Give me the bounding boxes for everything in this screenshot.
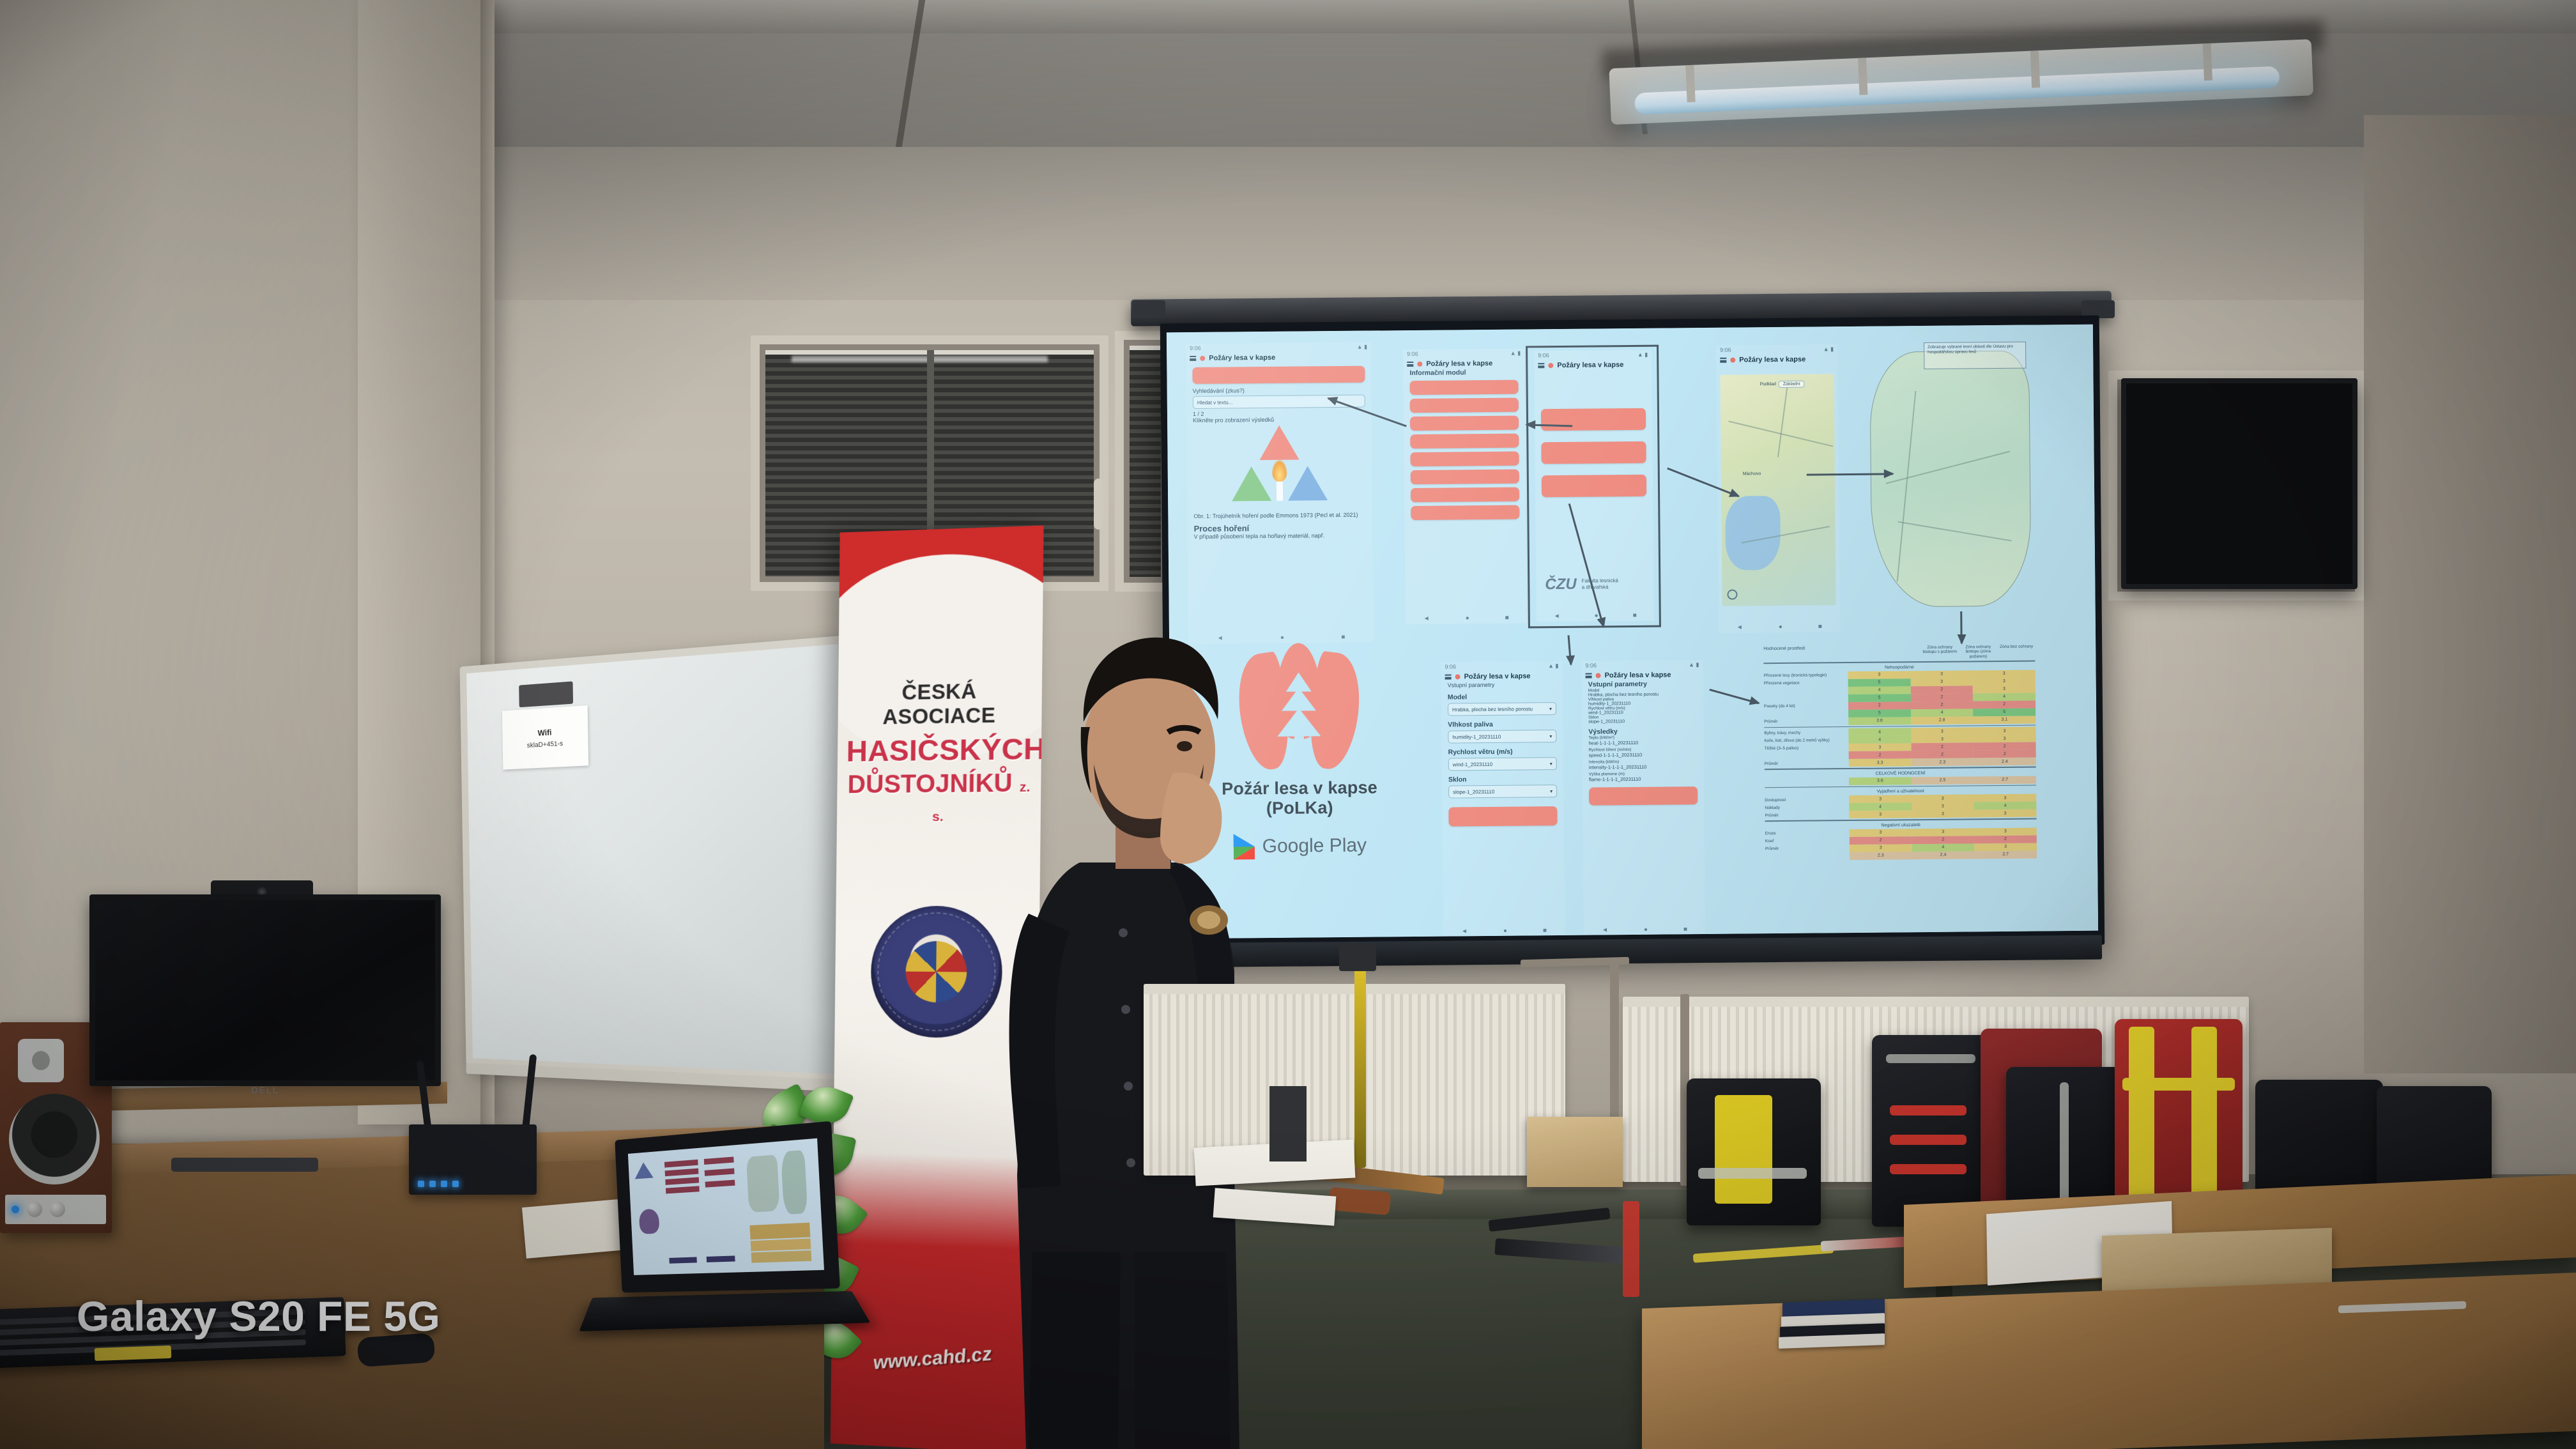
menu-item-7[interactable] xyxy=(1411,505,1519,520)
lamp-clip xyxy=(1685,65,1695,102)
laptop-slide-region xyxy=(781,1150,808,1215)
menu-item-1[interactable] xyxy=(1410,398,1519,413)
monitor-base xyxy=(171,1158,318,1172)
presenter-leg-right xyxy=(1135,1252,1230,1449)
matrix-cell: 3 xyxy=(1850,844,1912,852)
phone-app-bar: Požáry lesa v kapse xyxy=(1186,352,1371,364)
nav-recents-icon[interactable]: ■ xyxy=(1341,634,1345,641)
matrix-cell: 3 xyxy=(1973,670,2035,678)
nav-home-icon[interactable]: ● xyxy=(1644,926,1648,933)
laptop-slide-table xyxy=(751,1250,812,1263)
faculty-line-1: Fakulta lesnická xyxy=(1582,578,1618,585)
camera-watermark: Galaxy S20 FE 5G xyxy=(77,1292,440,1340)
menu-icon[interactable] xyxy=(1538,363,1544,368)
wifi-note-password: sklaD+451-s xyxy=(527,740,563,749)
fire-extinguisher xyxy=(1623,1201,1639,1297)
matrix-body: Přirozené lesy (lesnická typologie)333Př… xyxy=(1764,670,2037,861)
backpack-strap xyxy=(1890,1164,1966,1174)
input-label-0: Model xyxy=(1441,693,1563,701)
map-road xyxy=(1777,387,1788,457)
menu-item-6[interactable] xyxy=(1411,487,1519,502)
nav-recents-icon[interactable]: ■ xyxy=(1543,927,1547,934)
arrow-results-to-matrix xyxy=(1709,689,1759,704)
wifi-note-title: Wifi xyxy=(538,727,552,737)
chevron-down-icon: ▾ xyxy=(1549,733,1552,739)
matrix-row-label: Paseky (do 4 let) xyxy=(1764,702,1848,710)
laptop-slide-map xyxy=(746,1154,780,1212)
matrix-cell: 2.8 xyxy=(1911,716,1974,724)
matrix-cell: 3 xyxy=(1974,827,2037,836)
app-title: Požáry lesa v kapse xyxy=(1557,361,1623,369)
matrix-cell: 4 xyxy=(1848,728,1911,737)
reflective-stripe xyxy=(1698,1168,1807,1179)
nav-back-icon[interactable]: ◄ xyxy=(1554,613,1560,620)
matrix-row: Průměr333 xyxy=(1765,809,2036,820)
laptop xyxy=(594,1131,869,1342)
phone-mock-info: 9:06▲ ▮ Požáry lesa v kapse Vyhledávání … xyxy=(1186,342,1374,645)
matrix-cell: 3 xyxy=(1973,677,2035,686)
shirt-button xyxy=(1124,1082,1133,1091)
matrix-cell: 5 xyxy=(1848,678,1911,687)
matrix-cell: 4 xyxy=(1848,736,1911,744)
backpack-strap-yellow xyxy=(2129,1027,2154,1218)
matrix-cell: 3 xyxy=(1910,670,1973,678)
laptop-screen xyxy=(628,1138,824,1275)
status-icons: ▲ ▮ xyxy=(1689,661,1699,668)
nav-recents-icon[interactable]: ■ xyxy=(1818,623,1822,630)
lamp-clip xyxy=(2030,50,2040,88)
lamp-clip xyxy=(2203,43,2212,80)
backpack-strap-yellow xyxy=(2191,1027,2217,1218)
matrix-col-1: Zóna ochrany biotopu (zóna požárem) xyxy=(1959,645,1997,659)
matrix-cell: 2.7 xyxy=(1974,776,2036,784)
matrix-cell: 2.7 xyxy=(1974,850,2037,859)
flame-icon xyxy=(1417,362,1422,367)
map-view[interactable]: Podklad Základní Máchovo xyxy=(1720,374,1836,606)
result-value-1: speed-1-1-1-1_20231110 xyxy=(1583,751,1704,758)
backpack-belt xyxy=(2122,1078,2235,1091)
phone-nav-bar[interactable]: ◄●■ xyxy=(1719,623,1840,631)
dell-monitor: DELL xyxy=(89,894,441,1086)
matrix-row-header: Hodnocené prostředí xyxy=(1763,645,1920,661)
matrix-cell: 2 xyxy=(1849,751,1912,760)
reflective-stripe xyxy=(2060,1082,2069,1204)
input-value-3: slope-1_20231110 xyxy=(1453,788,1494,795)
status-time: 9:06 xyxy=(1585,662,1597,669)
backpack-black-red xyxy=(1872,1035,1993,1227)
flame-icon xyxy=(1200,356,1205,361)
matrix-header-row: Hodnocené prostředí Zóna ochrany biotopu… xyxy=(1763,645,2035,661)
input-select-model[interactable]: Hrabka, plocha bez lesního porostu▾ xyxy=(1448,702,1556,716)
phone-status-bar: 9:06▲ ▮ xyxy=(1534,350,1652,361)
matrix-cell: 5 xyxy=(1848,709,1911,717)
matrix-row-label: Průměr xyxy=(1765,811,1849,819)
result-value-3: flame-1-1-1-1_20231110 xyxy=(1583,776,1704,783)
shirt-button xyxy=(1119,928,1128,937)
map-layer-label: Podklad xyxy=(1760,382,1776,387)
nav-recents-icon[interactable]: ■ xyxy=(1633,612,1637,619)
app-title: Požáry lesa v kapse xyxy=(1426,360,1492,368)
chevron-down-icon: ▾ xyxy=(1550,761,1552,767)
menu-icon[interactable] xyxy=(1445,674,1452,679)
search-hint: Vyhledávání (zkus?) xyxy=(1186,387,1372,395)
nav-back-icon[interactable]: ◄ xyxy=(1736,624,1743,631)
blind-light-gap xyxy=(792,356,1048,362)
matrix-cell: 2 xyxy=(1974,835,2037,843)
triangle-oxidizer xyxy=(1259,425,1299,461)
input-select-humidity[interactable]: humidity-1_20231110▾ xyxy=(1448,730,1556,743)
matrix-cell: 2 xyxy=(1974,750,2036,758)
presenter-hand xyxy=(1160,772,1222,864)
matrix-col-0: Zóna ochrany biotopu s požárem xyxy=(1921,645,1958,660)
menu-icon[interactable] xyxy=(1190,356,1196,361)
input-label-3: Sklon xyxy=(1442,775,1563,784)
save-button[interactable] xyxy=(1589,786,1698,805)
laptop-slide-button xyxy=(707,1255,735,1262)
menu-section-label: Informační modul xyxy=(1403,368,1524,377)
phone-nav-bar[interactable]: ◄●■ xyxy=(1406,614,1527,622)
matrix-cell: 2 xyxy=(1910,686,1973,694)
whiteboard: Wifi sklaD+451-s xyxy=(460,635,854,1083)
menu-item-5[interactable] xyxy=(1411,470,1519,484)
inputs-section-label: Vstupní parametry xyxy=(1441,681,1563,689)
nav-recents-icon[interactable]: ■ xyxy=(1683,926,1687,933)
menu-icon[interactable] xyxy=(1720,358,1726,363)
map-place-label: Máchovo xyxy=(1743,471,1761,476)
flame-icon xyxy=(1596,673,1601,678)
input-value-2: wind-1_20231110 xyxy=(1453,761,1492,767)
phone-mock-map: 9:06▲ ▮ Požáry lesa v kapse Podklad xyxy=(1716,344,1840,633)
forest-region-map xyxy=(1869,351,2031,608)
input-value-0: Hrabka, plocha bez lesního porostu xyxy=(1452,706,1533,712)
input-select-slope[interactable]: slope-1_20231110▾ xyxy=(1448,785,1557,798)
menu-item-4[interactable] xyxy=(1411,452,1519,466)
phone-nav-bar[interactable]: ◄●■ xyxy=(1537,612,1654,620)
matrix-cell: 2 xyxy=(1974,742,2036,751)
faculty-line-2: a dřevařská xyxy=(1582,584,1618,590)
phone-mock-menu: 9:06▲ ▮ Požáry lesa v kapse Informační m… xyxy=(1403,348,1527,624)
matrix-cell: 3.8 xyxy=(1848,717,1911,725)
map-layer-select[interactable]: Základní xyxy=(1779,381,1805,388)
speaker-woofer xyxy=(9,1094,100,1184)
matrix-cell: 3 xyxy=(1848,671,1910,679)
menu-item-3[interactable] xyxy=(1410,434,1519,448)
power-led xyxy=(11,1206,19,1213)
matrix-row: 2.32.42.7 xyxy=(1765,850,2037,861)
matrix-cell: 3 xyxy=(1912,795,1974,803)
matrix-col-2: Zóna bez ochrany xyxy=(1998,645,2035,659)
phone-status-bar: 9:06▲ ▮ xyxy=(1186,342,1371,354)
module-button-info[interactable] xyxy=(1541,408,1646,431)
arrow-to-inputs xyxy=(1568,635,1572,664)
laptop-slide-table xyxy=(749,1223,810,1240)
matrix-cell: 5 xyxy=(1973,708,2035,716)
status-time: 9:06 xyxy=(1720,347,1731,354)
calculate-button[interactable] xyxy=(1448,806,1557,826)
matrix-cell: 3 xyxy=(1912,810,1974,818)
wifi-router xyxy=(409,1124,537,1195)
nav-home-icon[interactable]: ● xyxy=(1466,615,1469,622)
fire-triangle-diagram xyxy=(1231,425,1328,510)
matrix-cell: 3 xyxy=(1974,727,2036,735)
matrix-cell: 3 xyxy=(1974,843,2037,851)
app-title: Požáry lesa v kapse xyxy=(1605,671,1671,679)
matrix-cell: 3.1 xyxy=(1973,716,2035,724)
lamp-clip xyxy=(1858,57,1867,95)
figure-caption: Obr. 1: Trojúhelník hoření podle Emmons … xyxy=(1187,512,1372,521)
axe-handle xyxy=(1354,957,1366,1168)
right-wall xyxy=(2364,115,2576,1073)
menu-icon[interactable] xyxy=(1586,673,1592,678)
cahd-emblem xyxy=(870,906,1002,1039)
search-button[interactable] xyxy=(1192,366,1365,384)
status-icons: ▲ ▮ xyxy=(1357,344,1367,351)
matrix-cell: 3 xyxy=(1912,828,1974,836)
backpack-panel-yellow xyxy=(1715,1095,1772,1204)
flat-panel-tv xyxy=(2121,378,2357,589)
matrix-row-label xyxy=(1764,710,1848,718)
roller-cap-left xyxy=(1132,300,1165,318)
matrix-cell: 3.6 xyxy=(1849,777,1912,785)
room-photo-scene: 9:06▲ ▮ Požáry lesa v kapse Vyhledávání … xyxy=(0,0,2576,1449)
matrix-row-label: Průměr xyxy=(1765,759,1849,767)
matrix-cell: 3 xyxy=(1850,829,1912,837)
phone-status-bar: 9:06▲ ▮ xyxy=(1441,661,1562,672)
phone-mock-modules: 9:06▲ ▮ Požáry lesa v kapse ČZU Fakulta … xyxy=(1534,350,1654,622)
matrix-cell: 4 xyxy=(1912,843,1974,852)
matrix-cell: 5 xyxy=(1848,694,1911,702)
shirt-button xyxy=(1121,1005,1130,1014)
matrix-cell: 3 xyxy=(1973,685,2035,693)
cardboard-box xyxy=(1527,1117,1623,1187)
flame-icon xyxy=(1730,358,1735,363)
flame-icon xyxy=(1548,363,1553,368)
phone-mock-inputs: 9:06▲ ▮ Požáry lesa v kapse Vstupní para… xyxy=(1441,661,1565,937)
czu-logo: ČZU xyxy=(1545,576,1577,594)
input-select-wind[interactable]: wind-1_20231110▾ xyxy=(1448,757,1557,770)
nav-back-icon[interactable]: ◄ xyxy=(1423,615,1430,622)
flame-icon xyxy=(1455,674,1460,679)
matrix-cell: 3 xyxy=(1910,678,1973,686)
matrix-cell: 4 xyxy=(1973,693,2035,701)
shirt-button xyxy=(1126,1158,1135,1167)
matrix-cell: 2 xyxy=(1911,743,1974,751)
volume-knob[interactable] xyxy=(27,1202,42,1217)
laptop-slide-triangle xyxy=(634,1161,654,1179)
laptop-lid xyxy=(615,1121,840,1293)
matrix-cell: 3 xyxy=(1849,811,1912,819)
status-icons: ▲ ▮ xyxy=(1510,350,1521,357)
phone-status-bar: 9:06▲ ▮ xyxy=(1403,348,1524,359)
matrix-cell: 3 xyxy=(1849,795,1912,804)
matrix-cell: 2 xyxy=(1911,701,1974,709)
presenter-eye xyxy=(1177,741,1192,751)
triangle-fuel xyxy=(1232,466,1271,502)
region-boundary xyxy=(1886,451,2010,484)
triangle-heat xyxy=(1288,466,1328,501)
nav-back-icon[interactable]: ◄ xyxy=(1602,926,1608,933)
chain-reaction-arrow xyxy=(1276,482,1283,501)
result-note: Klikněte pro zobrazení výsledků xyxy=(1186,416,1372,424)
matrix-cell: 2.3 xyxy=(1911,758,1974,767)
wifi-note: Wifi sklaD+451-s xyxy=(502,705,588,770)
keyboard-sticker xyxy=(95,1345,172,1361)
matrix-cell: 2.5 xyxy=(1912,776,1974,785)
speaker-tweeter xyxy=(18,1039,64,1082)
evaluation-matrix: Hodnocené prostředí Zóna ochrany biotopu… xyxy=(1763,645,2037,861)
status-time: 9:06 xyxy=(1445,663,1456,670)
echo-7: slope-1_20231110 xyxy=(1582,719,1703,724)
laptop-slide-button xyxy=(669,1257,697,1263)
presenter-leg-left xyxy=(1029,1252,1121,1449)
matrix-row: 3.62.52.7 xyxy=(1765,776,2036,786)
matrix-row-label xyxy=(1765,778,1849,786)
matrix-cell: 2 xyxy=(1848,701,1911,710)
menu-item-0[interactable] xyxy=(1410,380,1519,395)
axe-head xyxy=(1339,944,1376,971)
menu-icon[interactable] xyxy=(1407,362,1413,367)
module-button-map[interactable] xyxy=(1541,441,1646,464)
app-title: Požáry lesa v kapse xyxy=(1209,354,1275,362)
backpack-strap xyxy=(1890,1105,1966,1115)
matrix-cell: 2.3 xyxy=(1850,852,1912,860)
body-text: V případě působení tepla na hořlavý mate… xyxy=(1188,532,1373,540)
region-note: Zobrazuje vybrané lesní oblasti dle Ústa… xyxy=(1928,344,2022,356)
nav-back-icon[interactable]: ◄ xyxy=(1461,928,1468,935)
module-button-calc[interactable] xyxy=(1542,475,1646,497)
matrix-row: Průměr3.82.83.1 xyxy=(1764,716,2035,726)
map-lake xyxy=(1725,496,1781,571)
menu-item-2[interactable] xyxy=(1410,416,1519,431)
matrix-row-label: Průměr xyxy=(1764,717,1848,726)
region-boundary xyxy=(1898,521,2012,542)
reflective-stripe xyxy=(1886,1054,1975,1063)
matrix-cell: 2 xyxy=(1911,751,1974,759)
nav-home-icon[interactable]: ● xyxy=(1779,624,1782,631)
matrix-cell: 2.4 xyxy=(1912,851,1975,859)
whiteboard-marker-holder xyxy=(519,681,573,707)
laptop-slide-table xyxy=(751,1238,811,1251)
status-time: 9:06 xyxy=(1538,352,1549,359)
matrix-cell: 3 xyxy=(1911,735,1974,744)
status-icons: ▲ ▮ xyxy=(1548,663,1558,670)
map-locate-icon[interactable] xyxy=(1727,590,1737,600)
radiator-top-rail xyxy=(1623,997,2249,1007)
matrix-cell: 3 xyxy=(1911,728,1974,736)
arrow-region-to-matrix xyxy=(1960,611,1962,643)
router-status-leds xyxy=(418,1181,459,1187)
phone-app-bar: Požáry lesa v kapse xyxy=(1716,354,1837,365)
matrix-cell: 2 xyxy=(1910,693,1973,701)
phone-status-bar: 9:06▲ ▮ xyxy=(1581,660,1703,671)
tone-knob[interactable] xyxy=(50,1202,65,1217)
matrix-cell: 2 xyxy=(1973,700,2035,709)
matrix-cell: 3 xyxy=(1974,809,2037,818)
phone-nav-bar[interactable]: ◄●■ xyxy=(1584,926,1705,934)
matrix-cell: 2 xyxy=(1912,836,1974,844)
matrix-cell: 2.4 xyxy=(1974,758,2036,766)
chevron-down-icon: ▾ xyxy=(1550,788,1552,794)
monitor-screen xyxy=(95,900,435,1080)
search-input-value: Hledat v textu... xyxy=(1197,399,1233,405)
watch-face xyxy=(1197,911,1220,929)
matrix-row-label xyxy=(1765,852,1850,861)
input-value-1: humidity-1_20231110 xyxy=(1452,733,1501,740)
matrix-cell: 3 xyxy=(1974,735,2036,743)
result-value-2: intensity-1-1-1-1_20231110 xyxy=(1583,763,1704,770)
backpack-strap xyxy=(1890,1135,1966,1145)
nav-recents-icon[interactable]: ■ xyxy=(1505,615,1509,622)
phone-status-bar: 9:06▲ ▮ xyxy=(1716,344,1837,355)
nav-home-icon[interactable]: ● xyxy=(1503,928,1507,935)
backpack-black-yellow xyxy=(1687,1078,1821,1225)
flame-icon-center xyxy=(1272,460,1287,482)
status-icons: ▲ ▮ xyxy=(1637,351,1648,358)
chevron-down-icon: ▾ xyxy=(1549,706,1552,712)
matrix-row: Průměr3.32.32.4 xyxy=(1765,758,2036,768)
speaker-control-panel[interactable] xyxy=(5,1195,106,1224)
status-icons: ▲ ▮ xyxy=(1823,346,1834,353)
phone-app-bar: Požáry lesa v kapse xyxy=(1441,671,1563,682)
result-value-0: heat-1-1-1-1_20231110 xyxy=(1582,739,1703,746)
app-title: Požáry lesa v kapse xyxy=(1739,356,1805,364)
matrix-cell: 3.3 xyxy=(1849,759,1912,767)
matrix-cell: 4 xyxy=(1911,709,1974,717)
status-time: 9:06 xyxy=(1407,351,1418,358)
monitor-brand-label: DELL xyxy=(251,1085,279,1095)
monitor-stand xyxy=(1269,1086,1307,1161)
status-time: 9:06 xyxy=(1190,345,1201,352)
phone-nav-bar[interactable]: ◄●■ xyxy=(1443,927,1565,935)
window-handle[interactable] xyxy=(1094,479,1103,530)
matrix-cell: 3 xyxy=(1848,744,1911,752)
input-label-2: Rychlost větru (m/s) xyxy=(1442,747,1563,756)
region-boundary xyxy=(1897,391,1917,582)
input-label-1: Vlhkost paliva xyxy=(1441,720,1563,729)
matrix-cell: 3 xyxy=(1974,794,2037,802)
matrix-cell: 2 xyxy=(1850,836,1912,845)
laptop-keyboard-base[interactable] xyxy=(579,1291,870,1331)
phone-mock-results: 9:06▲ ▮ Požáry lesa v kapse Vstupní para… xyxy=(1581,660,1705,936)
matrix-cell: 4 xyxy=(1849,803,1912,811)
matrix-cell: 3 xyxy=(1912,802,1974,811)
window-blind xyxy=(1130,346,1161,577)
phone-app-bar: Požáry lesa v kapse xyxy=(1403,358,1524,369)
matrix-cell: 4 xyxy=(1974,802,2037,810)
matrix-cell: 4 xyxy=(1848,686,1911,694)
app-title: Požáry lesa v kapse xyxy=(1464,672,1531,680)
phone-app-bar: Požáry lesa v kapse xyxy=(1581,670,1703,681)
phone-app-bar: Požáry lesa v kapse xyxy=(1534,360,1652,371)
